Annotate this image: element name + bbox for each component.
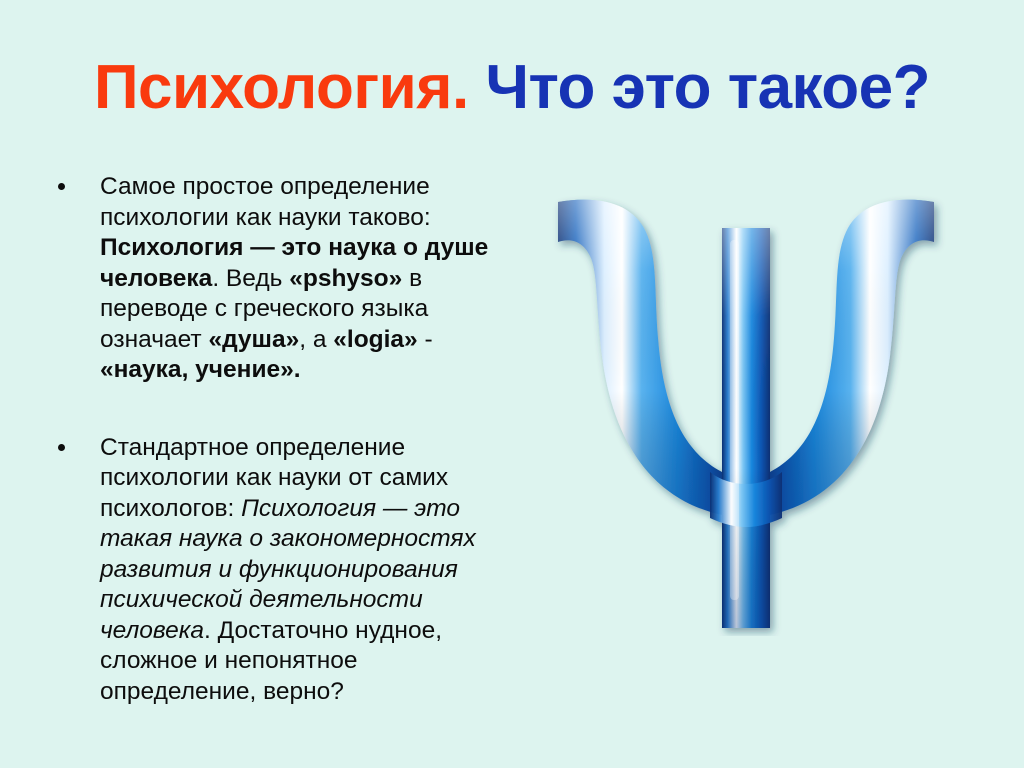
bullet-text: Стандартное определение психологии как н… — [100, 433, 512, 708]
psi-strokes — [558, 200, 934, 628]
page-title: Психология. Что это такое? — [0, 52, 1024, 124]
text-run-bold: «logia» — [333, 326, 417, 353]
text-run-normal: . Ведь — [212, 265, 289, 292]
psi-symbol-icon — [540, 188, 952, 636]
body-text-column: Самое простое определение психологии как… — [42, 172, 512, 707]
title-part-blue: Что это такое? — [485, 53, 930, 122]
bullet-text: Самое простое определение психологии как… — [100, 172, 512, 386]
psi-center-stem-sheen — [722, 228, 770, 628]
text-run-bold: «наука, учение». — [100, 356, 301, 383]
text-run-normal: , а — [299, 326, 333, 353]
psi-symbol-figure — [540, 188, 952, 636]
list-item: Стандартное определение психологии как н… — [42, 433, 512, 708]
title-space — [469, 53, 486, 122]
text-run-normal: - — [418, 326, 433, 353]
text-run-bold: «душа» — [208, 326, 299, 353]
text-run-bold: «pshyso» — [289, 265, 402, 292]
bullet-dot-icon — [58, 444, 65, 451]
title-part-red: Психология. — [94, 53, 469, 122]
bullet-dot-icon — [58, 183, 65, 190]
psi-left-arm-sheen — [558, 200, 736, 518]
psi-stem-highlight — [730, 240, 739, 600]
slide-canvas: Психология. Что это такое? Самое простое… — [0, 0, 1024, 768]
psi-right-arm-sheen — [756, 200, 934, 518]
list-item: Самое простое определение психологии как… — [42, 172, 512, 386]
text-run-normal: Самое простое определение психологии как… — [100, 173, 431, 231]
